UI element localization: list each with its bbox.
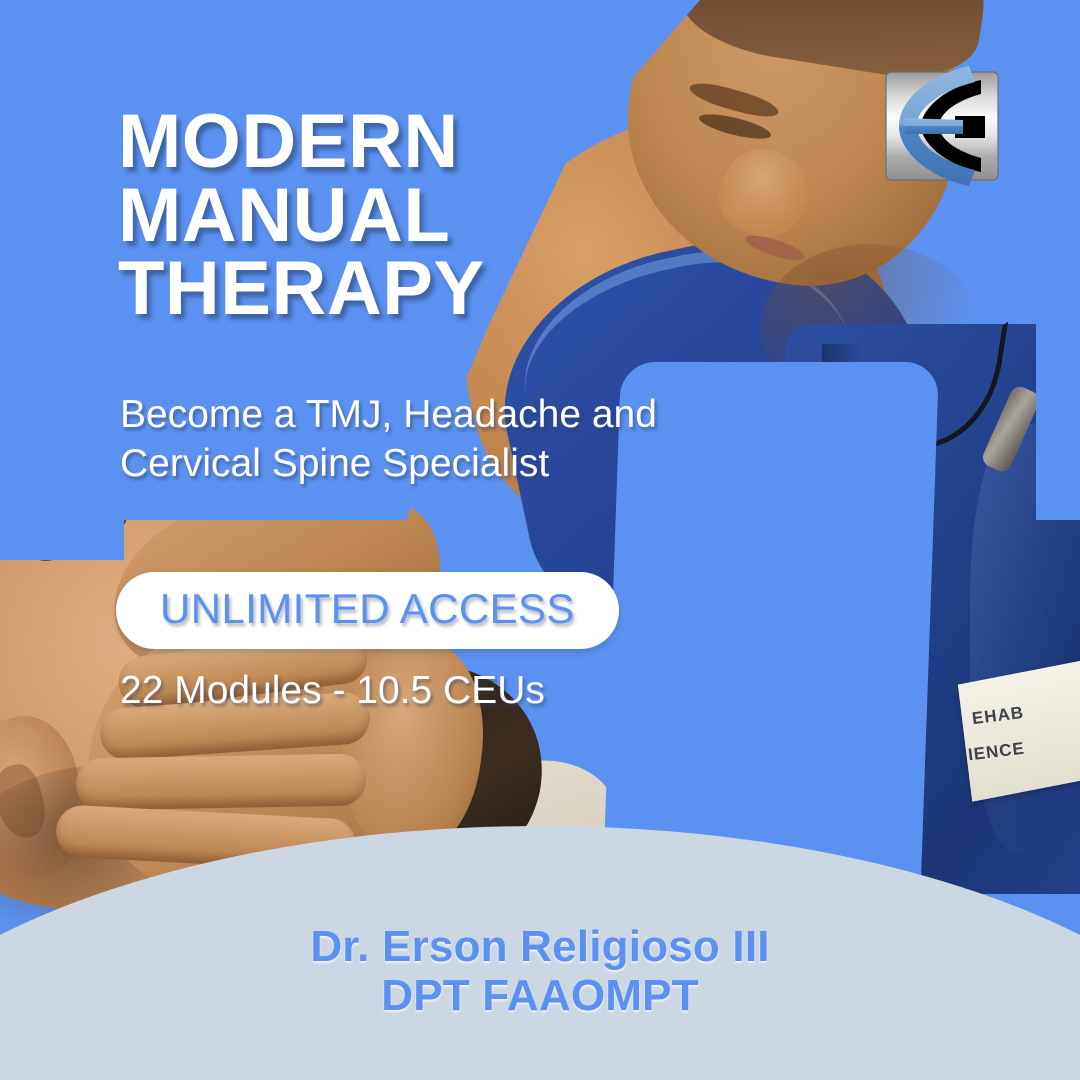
headline-line-1: MODERN	[118, 105, 485, 179]
headline-line-2: MANUAL	[118, 179, 485, 253]
clinician-finger	[76, 753, 367, 810]
presenter-credentials: DPT FAAOMPT	[0, 971, 1080, 1020]
blue-right-strip	[1036, 0, 1080, 520]
subtitle-line-2: Cervical Spine Specialist	[120, 439, 657, 488]
subtitle-line-1: Become a TMJ, Headache and	[120, 390, 657, 439]
headline-line-3: THERAPY	[118, 252, 485, 326]
promo-poster: EHAB IENCE Dr. Erson Religioso III DPT F…	[0, 0, 1080, 1080]
page-title: MODERN MANUAL THERAPY	[118, 105, 485, 326]
presenter-credit: Dr. Erson Religioso III DPT FAAOMPT	[0, 922, 1080, 1021]
unlimited-access-label: UNLIMITED ACCESS	[160, 585, 575, 632]
e-logo-icon	[877, 58, 1013, 194]
uniform-name-badge	[958, 660, 1080, 802]
subtitle: Become a TMJ, Headache and Cervical Spin…	[120, 390, 657, 488]
unlimited-access-badge[interactable]: UNLIMITED ACCESS	[116, 572, 619, 649]
modules-ceus-text: 22 Modules - 10.5 CEUs	[120, 669, 545, 713]
presenter-name: Dr. Erson Religioso III	[0, 922, 1080, 971]
